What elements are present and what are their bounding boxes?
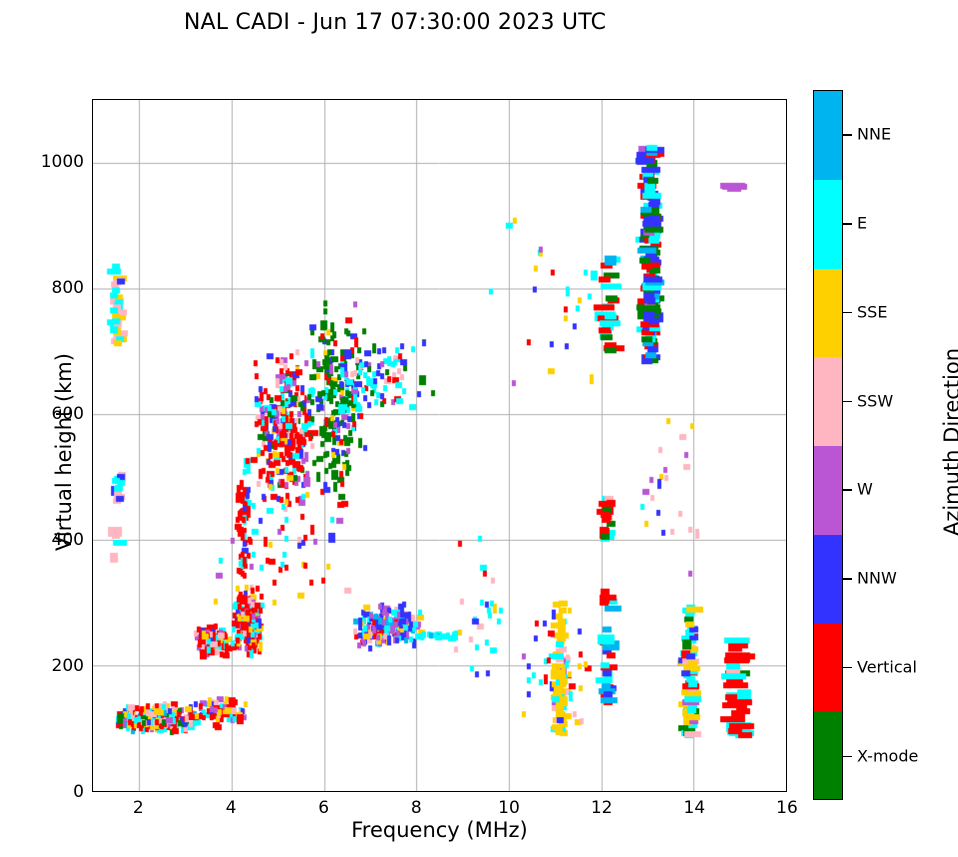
page-title: NAL CADI - Jun 17 07:30:00 2023 UTC xyxy=(0,10,790,35)
colorbar-label-nne: NNE xyxy=(857,125,891,144)
colorbar-tick xyxy=(843,489,852,491)
x-tick-label: 4 xyxy=(226,798,237,818)
colorbar-segment-w xyxy=(814,446,842,535)
colorbar-tick xyxy=(843,667,852,669)
colorbar xyxy=(813,90,843,800)
colorbar-tick xyxy=(843,312,852,314)
colorbar-label-ssw: SSW xyxy=(857,391,893,410)
colorbar-label-w: W xyxy=(857,480,873,499)
colorbar-segment-nne xyxy=(814,91,842,180)
x-tick-label: 12 xyxy=(591,798,613,818)
colorbar-tick xyxy=(843,401,852,403)
x-tick-label: 16 xyxy=(776,798,798,818)
x-tick-label: 10 xyxy=(498,798,520,818)
colorbar-tick xyxy=(843,223,852,225)
y-tick-label: 1000 xyxy=(8,152,84,172)
ionogram-figure: NAL CADI - Jun 17 07:30:00 2023 UTC 0200… xyxy=(0,0,958,857)
colorbar-title: Azimuth Direction xyxy=(940,262,958,622)
colorbar-tick xyxy=(843,134,852,136)
colorbar-label-e: E xyxy=(857,214,867,233)
colorbar-segment-ssw xyxy=(814,357,842,446)
plot-area xyxy=(92,99,787,792)
colorbar-segment-vertical xyxy=(814,624,842,713)
x-tick-label: 14 xyxy=(684,798,706,818)
x-tick-label: 8 xyxy=(411,798,422,818)
x-axis-label: Frequency (MHz) xyxy=(92,818,787,842)
colorbar-tick xyxy=(843,578,852,580)
colorbar-tick xyxy=(843,756,852,758)
colorbar-segment-sse xyxy=(814,269,842,358)
colorbar-label-x-mode: X-mode xyxy=(857,746,918,765)
colorbar-label-sse: SSE xyxy=(857,302,887,321)
y-tick-label: 0 xyxy=(8,782,84,802)
y-tick-label: 200 xyxy=(8,656,84,676)
colorbar-label-vertical: Vertical xyxy=(857,657,917,676)
colorbar-segment-nnw xyxy=(814,535,842,624)
colorbar-label-nnw: NNW xyxy=(857,569,897,588)
colorbar-segment-x-mode xyxy=(814,712,842,800)
x-tick-label: 2 xyxy=(133,798,144,818)
scatter-plot-canvas xyxy=(93,100,786,791)
x-tick-label: 6 xyxy=(318,798,329,818)
y-axis-label: Virtual height (km) xyxy=(52,252,76,652)
colorbar-segment-e xyxy=(814,180,842,269)
